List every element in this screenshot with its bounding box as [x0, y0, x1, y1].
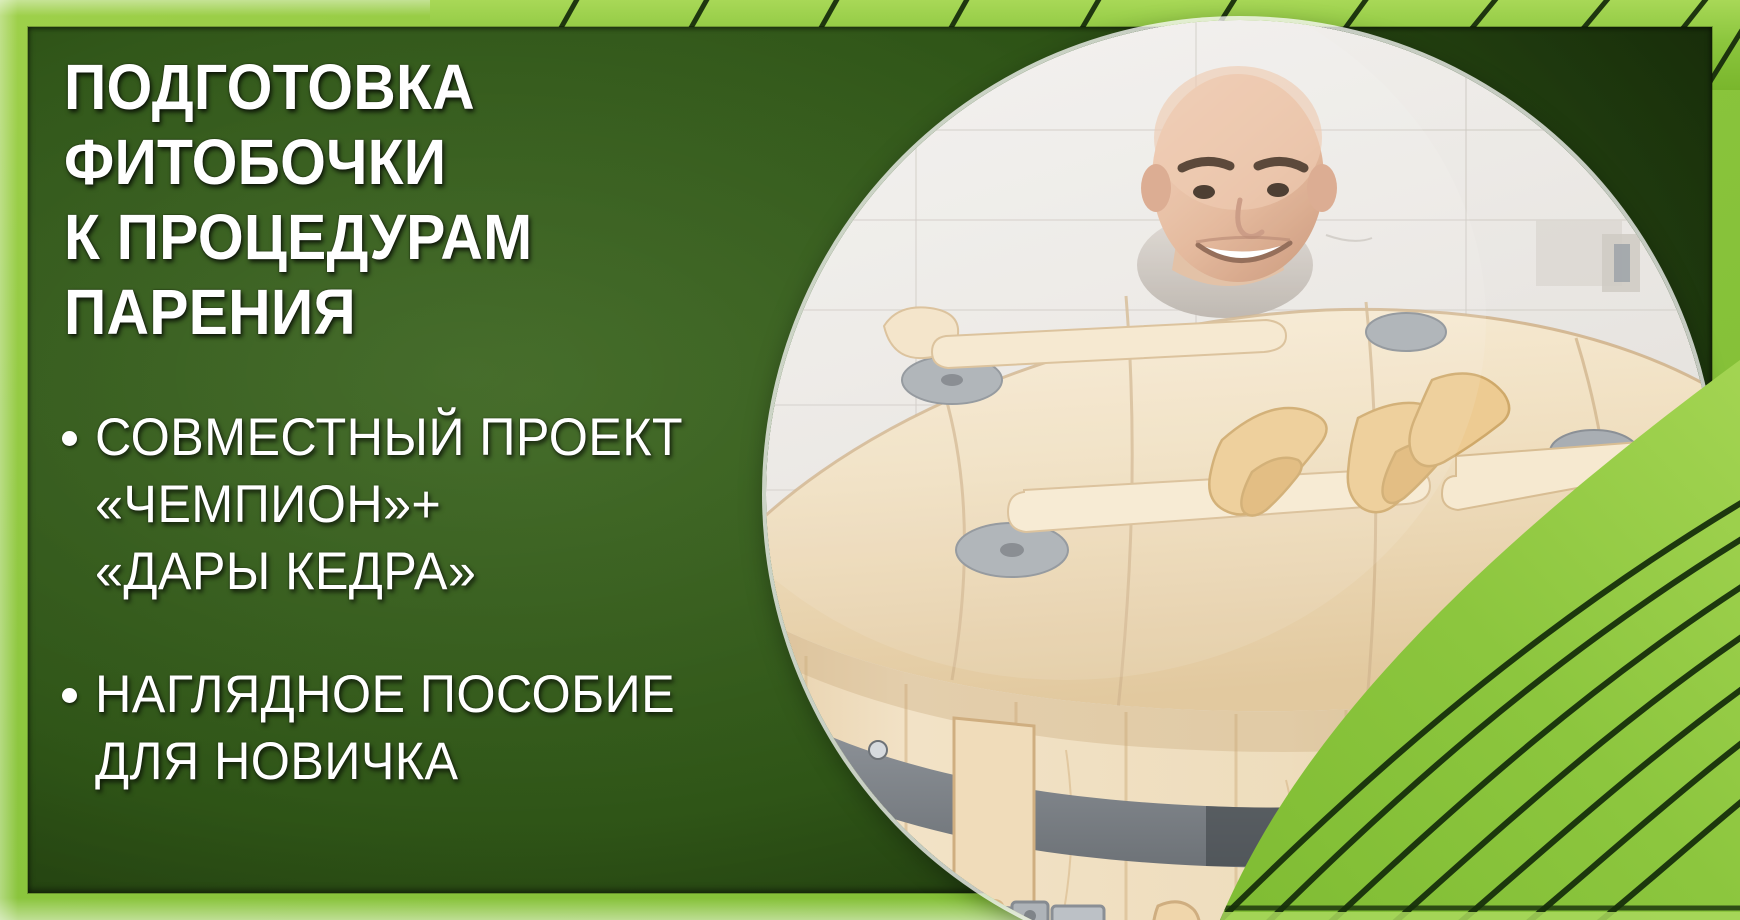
bullet-text: НАГЛЯДНОЕ ПОСОБИЕ ДЛЯ НОВИЧКА: [95, 661, 675, 795]
bullet-dot-icon: [62, 688, 77, 703]
bullet-list: СОВМЕСТНЫЙ ПРОЕКТ «ЧЕМПИОН»+ «ДАРЫ КЕДРА…: [62, 404, 942, 795]
frame-top-sheen: [0, 0, 1740, 16]
page-title: ПОДГОТОВКА ФИТОБОЧКИ К ПРОЦЕДУРАМ ПАРЕНИ…: [64, 50, 855, 350]
title-block: ПОДГОТОВКА ФИТОБОЧКИ К ПРОЦЕДУРАМ ПАРЕНИ…: [64, 50, 924, 350]
bullet-dot-icon: [62, 431, 77, 446]
promo-banner: ПОДГОТОВКА ФИТОБОЧКИ К ПРОЦЕДУРАМ ПАРЕНИ…: [0, 0, 1740, 920]
list-item: СОВМЕСТНЫЙ ПРОЕКТ «ЧЕМПИОН»+ «ДАРЫ КЕДРА…: [62, 404, 942, 605]
bullet-text: СОВМЕСТНЫЙ ПРОЕКТ «ЧЕМПИОН»+ «ДАРЫ КЕДРА…: [95, 404, 683, 605]
frame-left-sheen: [0, 0, 18, 920]
list-item: НАГЛЯДНОЕ ПОСОБИЕ ДЛЯ НОВИЧКА: [62, 661, 942, 795]
